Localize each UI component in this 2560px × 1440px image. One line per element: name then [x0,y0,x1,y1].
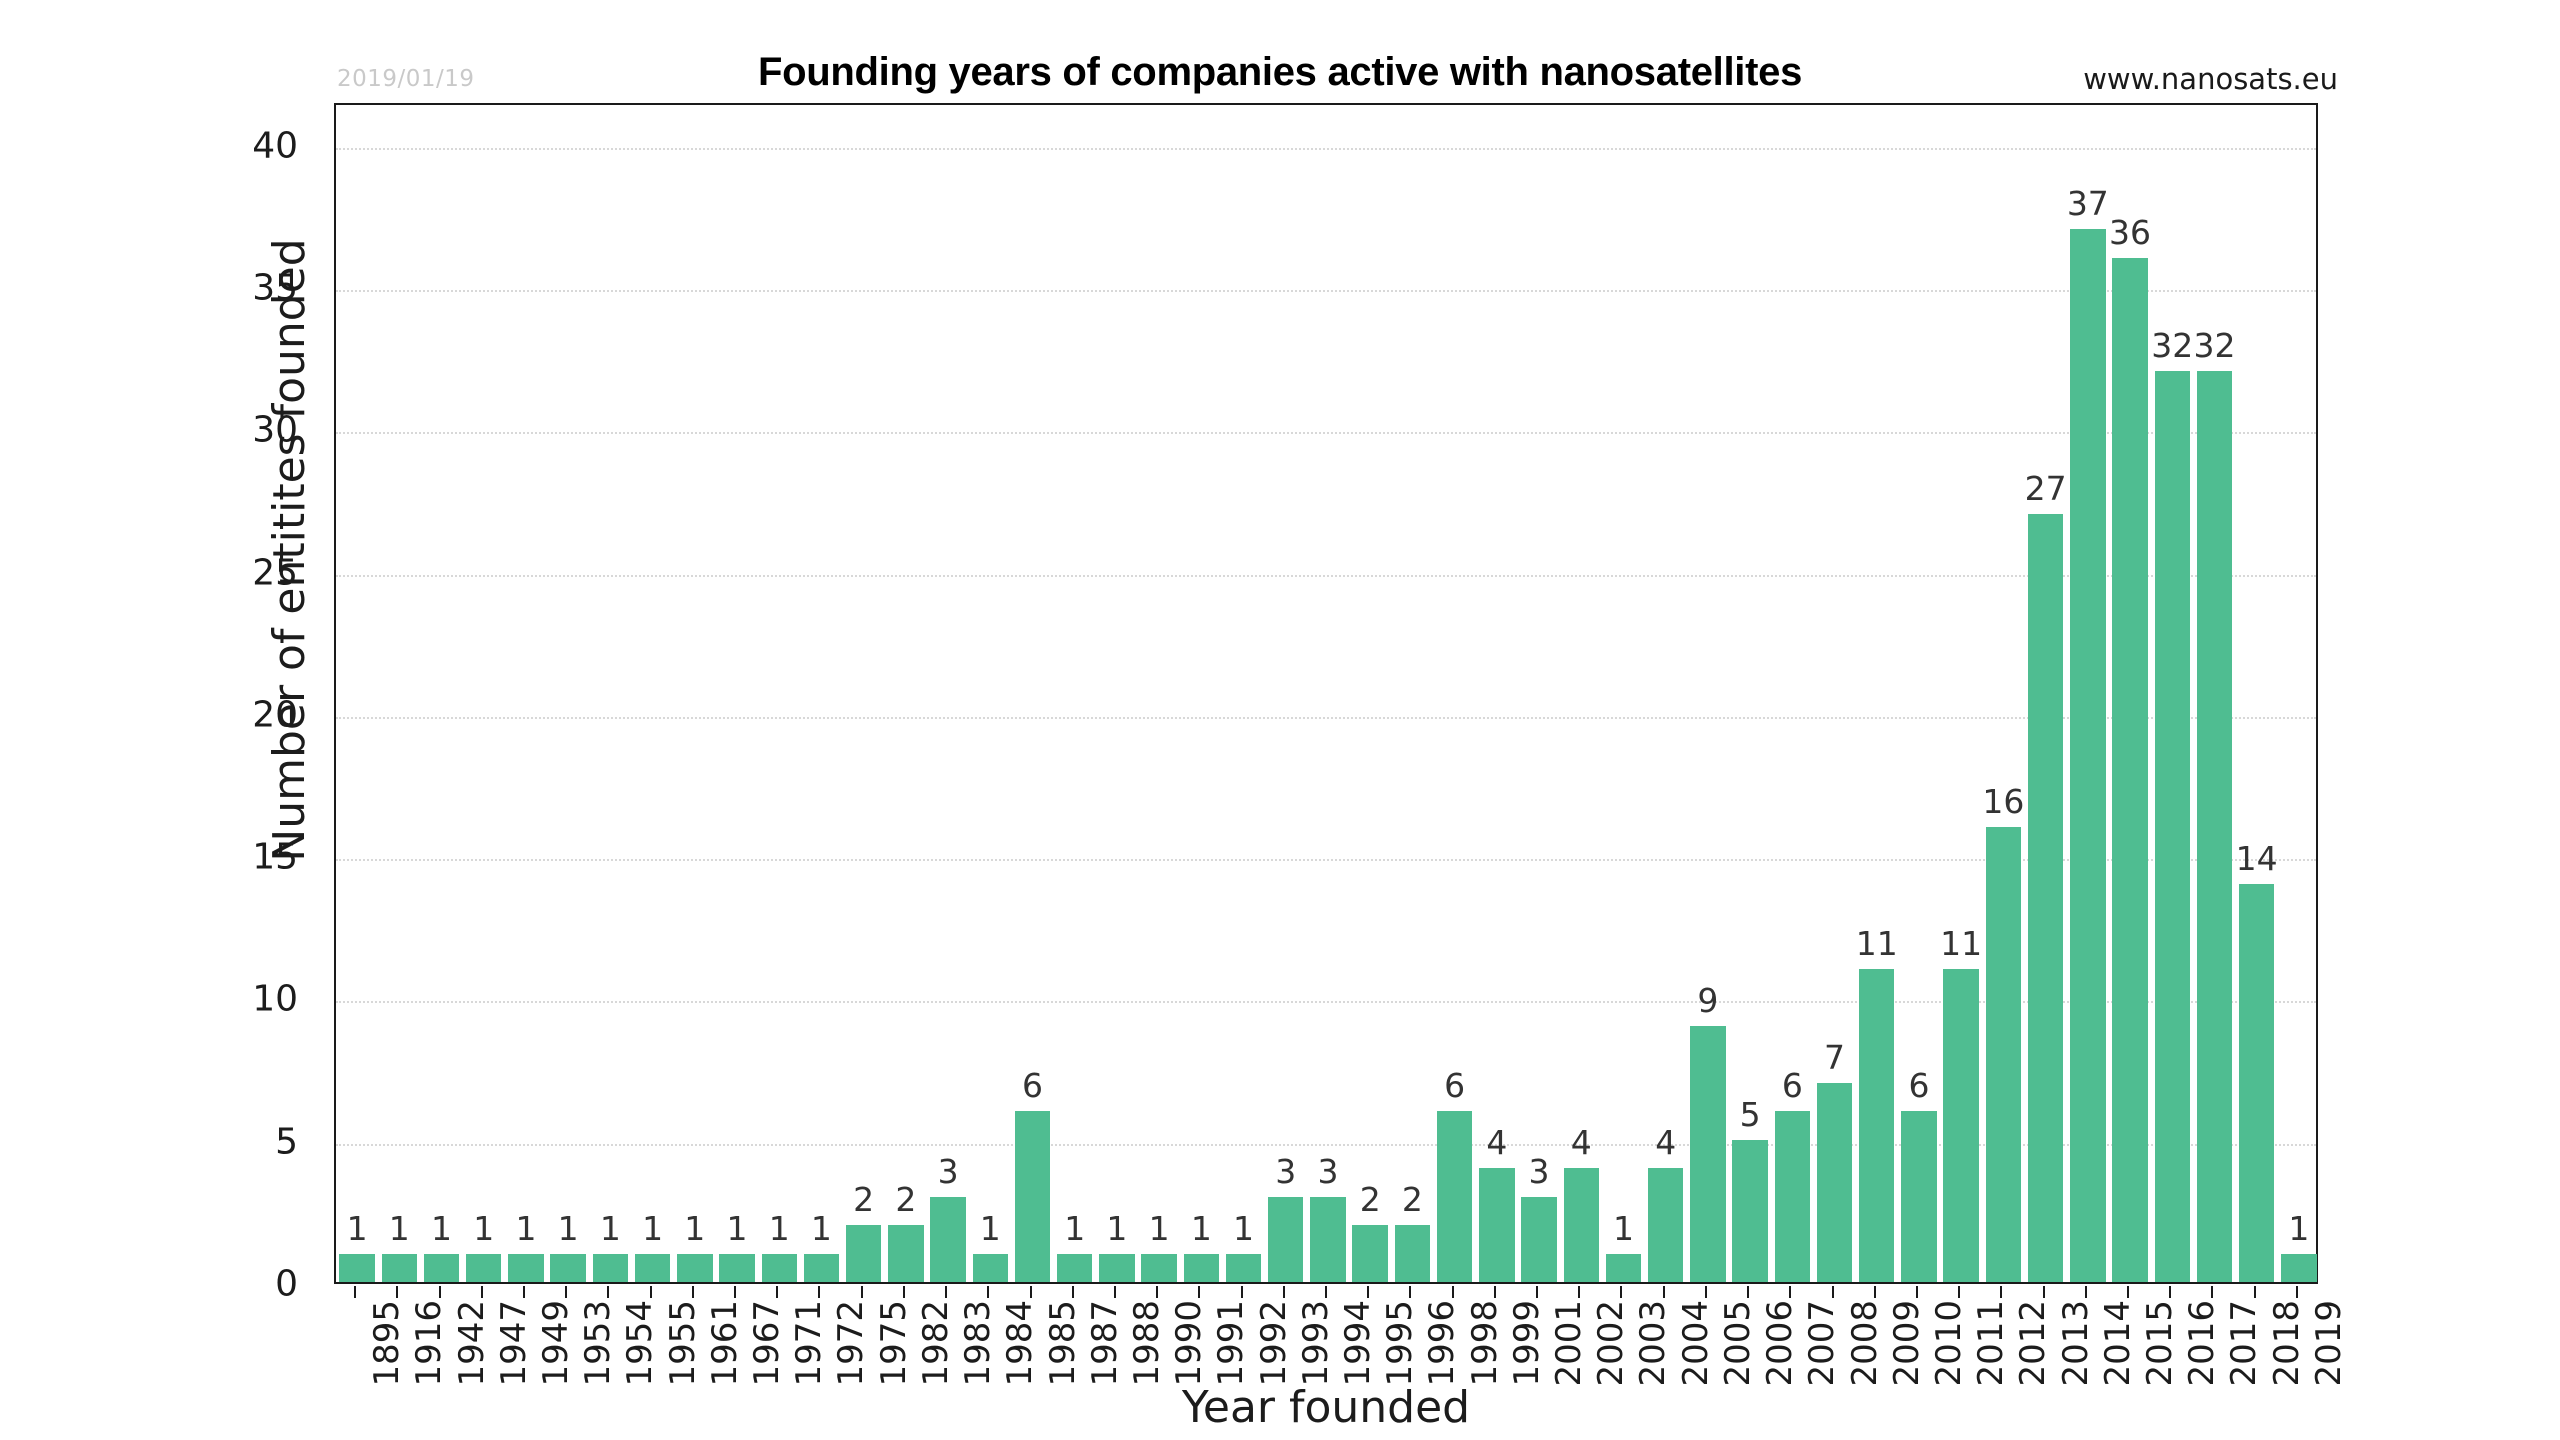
bar-value-label: 3 [1317,1152,1338,1191]
bar[interactable] [1479,1168,1514,1282]
x-tick-label: 2002 [1591,1300,1631,1387]
bar-slot: 1 [969,105,1011,1282]
x-tick-mark [903,1286,905,1298]
bar-slot: 2 [1349,105,1391,1282]
x-tick-mark [1789,1286,1791,1298]
bar-value-label: 4 [1655,1123,1676,1162]
bar[interactable] [1310,1197,1345,1282]
x-tick-mark [945,1286,947,1298]
bar-slot: 3 [1265,105,1307,1282]
x-tick-mark [1620,1286,1622,1298]
y-tick-label: 25 [98,552,298,593]
bar-slot: 6 [1011,105,1053,1282]
x-tick-label: 1999 [1507,1300,1547,1387]
bar-value-label: 9 [1697,981,1718,1020]
x-tick-label: 1992 [1254,1300,1294,1387]
bar-value-label: 6 [1022,1066,1043,1105]
bar[interactable] [382,1254,417,1282]
bar-slot: 11 [1856,105,1898,1282]
x-tick-mark [565,1286,567,1298]
bar[interactable] [593,1254,628,1282]
bar[interactable] [1521,1197,1556,1282]
bar[interactable] [1395,1225,1430,1282]
bar-value-label: 6 [1782,1066,1803,1105]
bar[interactable] [2112,258,2147,1282]
bars-layer: 1111111111112231611111332264341495671161… [336,105,2316,1282]
x-tick-label: 1990 [1169,1300,1209,1387]
x-tick-label: 2005 [1718,1300,1758,1387]
x-tick-label: 2006 [1760,1300,1800,1387]
x-tick-mark [2000,1286,2002,1298]
bar-slot: 32 [2151,105,2193,1282]
x-tick-label: 1996 [1422,1300,1462,1387]
x-axis-title: Year founded [334,1382,2318,1433]
x-tick-label: 2011 [1971,1300,2011,1387]
x-tick-label: 2012 [2013,1300,2053,1387]
bar[interactable] [719,1254,754,1282]
bar[interactable] [846,1225,881,1282]
bar-value-label: 6 [1908,1066,1929,1105]
bar[interactable] [1437,1111,1472,1282]
x-tick-mark [1241,1286,1243,1298]
y-tick-label: 0 [98,1264,298,1305]
x-tick-label: 1987 [1085,1300,1125,1387]
x-tick-label: 1972 [831,1300,871,1387]
x-tick-label: 1971 [789,1300,829,1387]
bar[interactable] [1943,969,1978,1282]
bar-slot: 4 [1560,105,1602,1282]
bar-value-label: 1 [769,1209,790,1248]
bar-value-label: 11 [1940,924,1982,963]
bar[interactable] [677,1254,712,1282]
x-tick-label: 1954 [620,1300,660,1387]
bar-value-label: 1 [684,1209,705,1248]
bar[interactable] [1141,1254,1176,1282]
bar-value-label: 32 [2193,326,2235,365]
bar-value-label: 1 [473,1209,494,1248]
x-tick-mark [354,1286,356,1298]
bar-value-label: 1 [1613,1209,1634,1248]
x-tick-mark [2211,1286,2213,1298]
bar-value-label: 1 [558,1209,579,1248]
bar-value-label: 1 [811,1209,832,1248]
x-tick-mark [1072,1286,1074,1298]
x-tick-label: 1991 [1211,1300,1251,1387]
bar-value-label: 1 [347,1209,368,1248]
bar-slot: 4 [1645,105,1687,1282]
bar[interactable] [1648,1168,1683,1282]
x-tick-mark [861,1286,863,1298]
x-tick-mark [607,1286,609,1298]
bar-slot: 1 [2278,105,2320,1282]
x-tick-label: 2013 [2056,1300,2096,1387]
x-tick-label: 2004 [1676,1300,1716,1387]
x-tick-label: 1994 [1338,1300,1378,1387]
bar-value-label: 2 [1402,1180,1423,1219]
x-tick-label: 2016 [2182,1300,2222,1387]
x-tick-mark [2254,1286,2256,1298]
bar-value-label: 4 [1486,1123,1507,1162]
x-tick-label: 1961 [705,1300,745,1387]
bar[interactable] [424,1254,459,1282]
bar-slot: 1 [1602,105,1644,1282]
x-tick-label: 2019 [2309,1300,2349,1387]
bar-slot: 7 [1813,105,1855,1282]
x-tick-mark [1958,1286,1960,1298]
x-tick-mark [2043,1286,2045,1298]
bar-slot: 1 [589,105,631,1282]
bar-slot: 1 [674,105,716,1282]
bar-value-label: 1 [980,1209,1001,1248]
bar[interactable] [1184,1254,1219,1282]
bar-value-label: 32 [2151,326,2193,365]
bar-value-label: 6 [1444,1066,1465,1105]
x-tick-mark [1494,1286,1496,1298]
x-tick-label: 1967 [747,1300,787,1387]
bar[interactable] [1901,1111,1936,1282]
bar-slot: 1 [1054,105,1096,1282]
x-tick-mark [1536,1286,1538,1298]
bar-slot: 3 [1307,105,1349,1282]
x-tick-label: 1953 [578,1300,618,1387]
bar[interactable] [1817,1083,1852,1282]
x-tick-mark [1747,1286,1749,1298]
bar-slot: 2 [1391,105,1433,1282]
watermark-url: www.nanosats.eu [2083,62,2338,96]
x-tick-mark [1283,1286,1285,1298]
bar-value-label: 1 [515,1209,536,1248]
x-tick-mark [481,1286,483,1298]
bar-value-label: 1 [1064,1209,1085,1248]
bar-slot: 1 [758,105,800,1282]
x-tick-mark [818,1286,820,1298]
bar-value-label: 3 [1529,1152,1550,1191]
x-tick-mark [1578,1286,1580,1298]
x-tick-label: 2009 [1887,1300,1927,1387]
bar-value-label: 1 [642,1209,663,1248]
bar-slot: 6 [1898,105,1940,1282]
bar-slot: 1 [1222,105,1264,1282]
bar-chart: 2019/01/19 Founding years of companies a… [0,0,2560,1440]
x-tick-mark [2169,1286,2171,1298]
x-tick-mark [692,1286,694,1298]
bar[interactable] [1986,827,2021,1282]
bar-value-label: 37 [2067,184,2109,223]
bar-value-label: 7 [1824,1038,1845,1077]
y-tick-label: 10 [98,979,298,1020]
bar-value-label: 1 [1149,1209,1170,1248]
x-tick-mark [439,1286,441,1298]
bar[interactable] [2197,371,2232,1282]
x-tick-label: 2017 [2224,1300,2264,1387]
bar-value-label: 16 [1982,782,2024,821]
bar[interactable] [973,1254,1008,1282]
bar-slot: 1 [716,105,758,1282]
bar-value-label: 36 [2109,213,2151,252]
x-tick-mark [1452,1286,1454,1298]
x-tick-mark [1114,1286,1116,1298]
bar-value-label: 3 [938,1152,959,1191]
bar-value-label: 27 [2025,469,2067,508]
bar[interactable] [1057,1254,1092,1282]
bar-slot: 32 [2193,105,2235,1282]
bar-slot: 4 [1476,105,1518,1282]
x-tick-mark [1663,1286,1665,1298]
bar-slot: 1 [800,105,842,1282]
bar-slot: 1 [378,105,420,1282]
bar[interactable] [1564,1168,1599,1282]
bar[interactable] [508,1254,543,1282]
y-tick-label: 30 [98,410,298,451]
x-tick-label: 1995 [1380,1300,1420,1387]
bar-slot: 37 [2067,105,2109,1282]
x-tick-mark [650,1286,652,1298]
bar-slot: 6 [1771,105,1813,1282]
bar-slot: 1 [631,105,673,1282]
x-tick-label: 1993 [1296,1300,1336,1387]
x-tick-label: 1947 [494,1300,534,1387]
bar[interactable] [2070,229,2105,1282]
bar[interactable] [1099,1254,1134,1282]
bar[interactable] [2281,1254,2316,1282]
bar[interactable] [804,1254,839,1282]
bar-slot: 2 [843,105,885,1282]
bar-slot: 1 [420,105,462,1282]
x-tick-label: 1942 [452,1300,492,1387]
bar-slot: 2 [885,105,927,1282]
plot-area: 1111111111112231611111332264341495671161… [334,103,2318,1284]
bar[interactable] [1226,1254,1261,1282]
x-tick-mark [1156,1286,1158,1298]
bar-value-label: 1 [1106,1209,1127,1248]
x-tick-mark [1705,1286,1707,1298]
x-tick-label: 1998 [1465,1300,1505,1387]
bar-slot: 1 [463,105,505,1282]
bar-value-label: 5 [1740,1095,1761,1134]
bar-value-label: 1 [727,1209,748,1248]
bar-slot: 27 [2025,105,2067,1282]
y-tick-label: 5 [98,1121,298,1162]
bar-value-label: 1 [1233,1209,1254,1248]
x-tick-mark [776,1286,778,1298]
bar[interactable] [550,1254,585,1282]
bar-value-label: 14 [2236,839,2278,878]
bar[interactable] [1352,1225,1387,1282]
bar[interactable] [1859,969,1894,1282]
bar[interactable] [1268,1197,1303,1282]
bar-slot: 3 [1518,105,1560,1282]
x-tick-label: 2008 [1845,1300,1885,1387]
x-tick-mark [2085,1286,2087,1298]
bar[interactable] [466,1254,501,1282]
x-tick-mark [523,1286,525,1298]
y-tick-label: 20 [98,694,298,735]
bar-value-label: 2 [853,1180,874,1219]
bar-slot: 11 [1940,105,1982,1282]
bar-slot: 36 [2109,105,2151,1282]
x-tick-label: 1949 [536,1300,576,1387]
y-tick-label: 15 [98,837,298,878]
x-tick-mark [2296,1286,2298,1298]
bar-slot: 1 [547,105,589,1282]
bar[interactable] [1015,1111,1050,1282]
x-tick-label: 2010 [1929,1300,1969,1387]
bar-value-label: 3 [1275,1152,1296,1191]
bar-value-label: 1 [389,1209,410,1248]
x-tick-label: 1916 [409,1300,449,1387]
bar-value-label: 1 [1191,1209,1212,1248]
x-tick-label: 1982 [916,1300,956,1387]
bar-value-label: 11 [1856,924,1898,963]
bar[interactable] [339,1254,374,1282]
bar-value-label: 1 [431,1209,452,1248]
bar[interactable] [2239,884,2274,1282]
x-tick-label: 1983 [958,1300,998,1387]
x-tick-mark [396,1286,398,1298]
bar-slot: 1 [1138,105,1180,1282]
bar-slot: 9 [1687,105,1729,1282]
bar-slot: 6 [1434,105,1476,1282]
bar[interactable] [2155,371,2190,1282]
y-tick-label: 35 [98,267,298,308]
x-tick-mark [1030,1286,1032,1298]
x-tick-label: 1985 [1043,1300,1083,1387]
x-tick-label: 1895 [367,1300,407,1387]
x-tick-label: 2007 [1802,1300,1842,1387]
bar-value-label: 4 [1571,1123,1592,1162]
bar[interactable] [1606,1254,1641,1282]
x-tick-mark [987,1286,989,1298]
x-tick-label: 1984 [1000,1300,1040,1387]
bar[interactable] [1775,1111,1810,1282]
bar-value-label: 2 [895,1180,916,1219]
bar-slot: 1 [505,105,547,1282]
bar-slot: 16 [1982,105,2024,1282]
bar[interactable] [1732,1140,1767,1282]
bar[interactable] [635,1254,670,1282]
bar[interactable] [762,1254,797,1282]
bar-slot: 1 [1180,105,1222,1282]
x-tick-mark [1832,1286,1834,1298]
x-tick-label: 2018 [2267,1300,2307,1387]
x-tick-label: 2015 [2140,1300,2180,1387]
x-tick-mark [1325,1286,1327,1298]
bar-value-label: 1 [600,1209,621,1248]
bar-value-label: 2 [1360,1180,1381,1219]
x-tick-label: 2003 [1633,1300,1673,1387]
bar[interactable] [888,1225,923,1282]
x-tick-mark [734,1286,736,1298]
bar-slot: 5 [1729,105,1771,1282]
bar-slot: 1 [1096,105,1138,1282]
x-tick-label: 1988 [1127,1300,1167,1387]
bar[interactable] [2028,514,2063,1282]
x-tick-mark [1367,1286,1369,1298]
x-tick-label: 2014 [2098,1300,2138,1387]
x-tick-label: 2001 [1549,1300,1589,1387]
y-tick-label: 40 [98,125,298,166]
bar-slot: 14 [2236,105,2278,1282]
x-tick-mark [2127,1286,2129,1298]
bar-slot: 1 [336,105,378,1282]
x-tick-mark [1409,1286,1411,1298]
x-tick-mark [1198,1286,1200,1298]
x-tick-label: 1975 [874,1300,914,1387]
x-tick-label: 1955 [663,1300,703,1387]
x-tick-mark [1874,1286,1876,1298]
bar-slot: 3 [927,105,969,1282]
bar-value-label: 1 [2288,1209,2309,1248]
x-tick-mark [1916,1286,1918,1298]
bar[interactable] [1690,1026,1725,1282]
bar[interactable] [930,1197,965,1282]
